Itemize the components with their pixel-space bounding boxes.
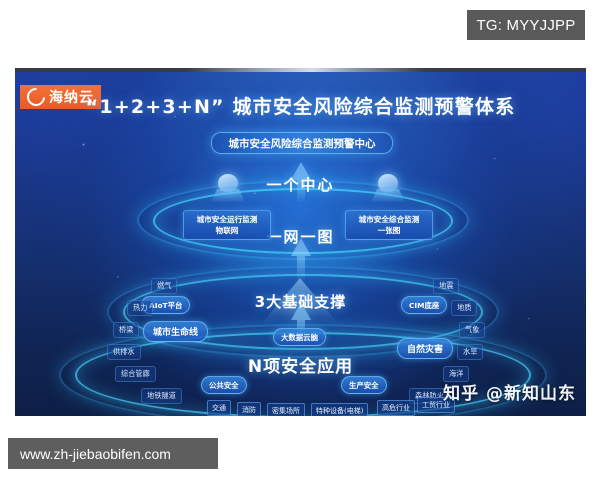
disaster-item-3: 水旱 [457, 344, 483, 360]
ring-box-left: 城市安全运行监测 物联网 [183, 210, 271, 240]
application-item-0: 交通 [207, 400, 231, 416]
poster-top-strip [15, 68, 586, 72]
cap-natural-disaster: 自然灾害 [397, 338, 453, 359]
tier-one-net-one-map: 一网一图 [15, 226, 586, 247]
page-title: “1+2+3+N” 城市安全风险综合监测预警体系 [15, 92, 586, 119]
poster-image: 海纳云 “1+2+3+N” 城市安全风险综合监测预警体系 城市安全风险综合监测预… [15, 68, 586, 416]
cap-city-lifeline: 城市生命线 [143, 321, 208, 342]
diagram-stage: 城市安全风险综合监测预警中心 一个中心 一网一图 3大基础支撑 N项安全应用 城… [15, 126, 586, 416]
ring-box-right-line2: 一张图 [352, 225, 426, 236]
tier-three-supports: 3大基础支撑 [15, 291, 586, 312]
top-watermark-chip: TG: MYYJJPP [467, 10, 585, 40]
zhihu-watermark: 知乎 @新知山东 [443, 379, 576, 404]
application-item-4: 高危行业 [377, 400, 415, 416]
bottom-url-chip: www.zh-jiebaobifen.com [8, 438, 218, 469]
ring-box-left-line2: 物联网 [190, 225, 264, 236]
lifeline-item-2: 桥梁 [113, 322, 139, 338]
cap-public-safety: 公共安全 [201, 376, 247, 394]
ring-box-left-line1: 城市安全运行监测 [190, 214, 264, 225]
disaster-item-1: 地质 [451, 300, 477, 316]
center-pill-label: 城市安全风险综合监测预警中心 [211, 132, 393, 154]
application-item-2: 密集场所 [267, 403, 305, 416]
disaster-item-2: 气象 [459, 322, 485, 338]
tier-one-center: 一个中心 [15, 174, 586, 195]
application-item-1: 消防 [237, 402, 261, 416]
disaster-item-0: 地震 [433, 278, 459, 294]
lifeline-item-1: 热力 [127, 300, 153, 316]
lifeline-item-3: 供排水 [107, 344, 141, 360]
bottom-url-text: www.zh-jiebaobifen.com [20, 446, 171, 462]
application-item-3: 特种设备(电梯) [311, 403, 368, 416]
ring-box-right: 城市安全综合监测 一张图 [345, 210, 433, 240]
top-watermark-text: TG: MYYJJPP [477, 17, 576, 34]
lifeline-item-0: 燃气 [151, 278, 177, 294]
cap-production-safety: 生产安全 [341, 376, 387, 394]
lifeline-item-4: 综合管廊 [115, 366, 156, 382]
cap-bigdata-brain: 大数据云脑 [273, 328, 326, 346]
lifeline-item-5: 地铁隧道 [141, 388, 182, 404]
cap-cim-base: CIM底座 [401, 296, 447, 314]
ring-box-right-line1: 城市安全综合监测 [352, 214, 426, 225]
arrow-stem-middle [297, 256, 305, 280]
tier-n-applications: N项安全应用 [15, 352, 586, 377]
